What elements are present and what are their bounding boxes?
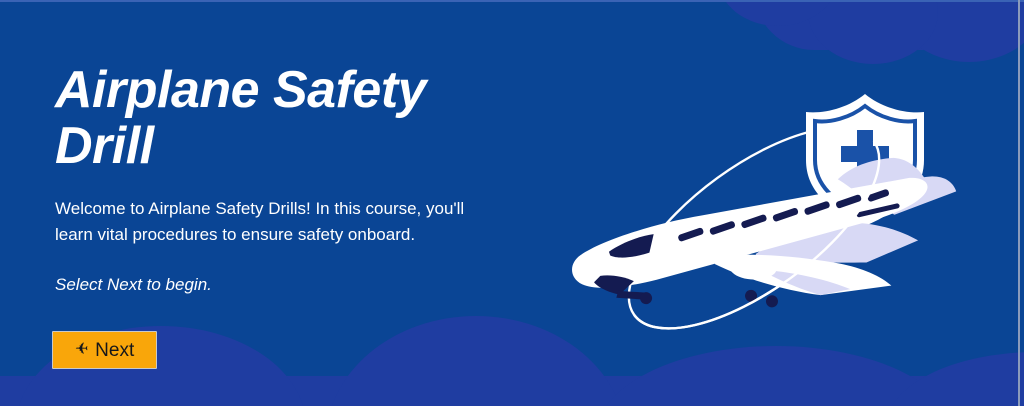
course-intro-slide: Airplane Safety Drill Welcome to Airplan… (0, 0, 1024, 406)
cloud-top-right-1 (894, 0, 1024, 62)
intro-body-text: Welcome to Airplane Safety Drills! In th… (55, 174, 485, 248)
cloud-bottom-base (0, 376, 1024, 406)
slide-text-content: Airplane Safety Drill Welcome to Airplan… (55, 62, 525, 296)
cloud-top-right-2 (808, 0, 938, 64)
next-button[interactable]: ✈ Next (52, 331, 157, 369)
cloud-top-right-3 (718, 0, 838, 26)
page-title: Airplane Safety Drill (55, 62, 525, 174)
next-prompt-text: Select Next to begin. (55, 248, 525, 296)
airplane-icon: ✈ (75, 342, 88, 358)
next-button-label: Next (95, 341, 134, 360)
cloud-top-right-base (754, 0, 1024, 50)
top-border (0, 0, 1024, 2)
airplane-illustration (524, 78, 984, 378)
scrollbar[interactable] (1018, 0, 1020, 406)
